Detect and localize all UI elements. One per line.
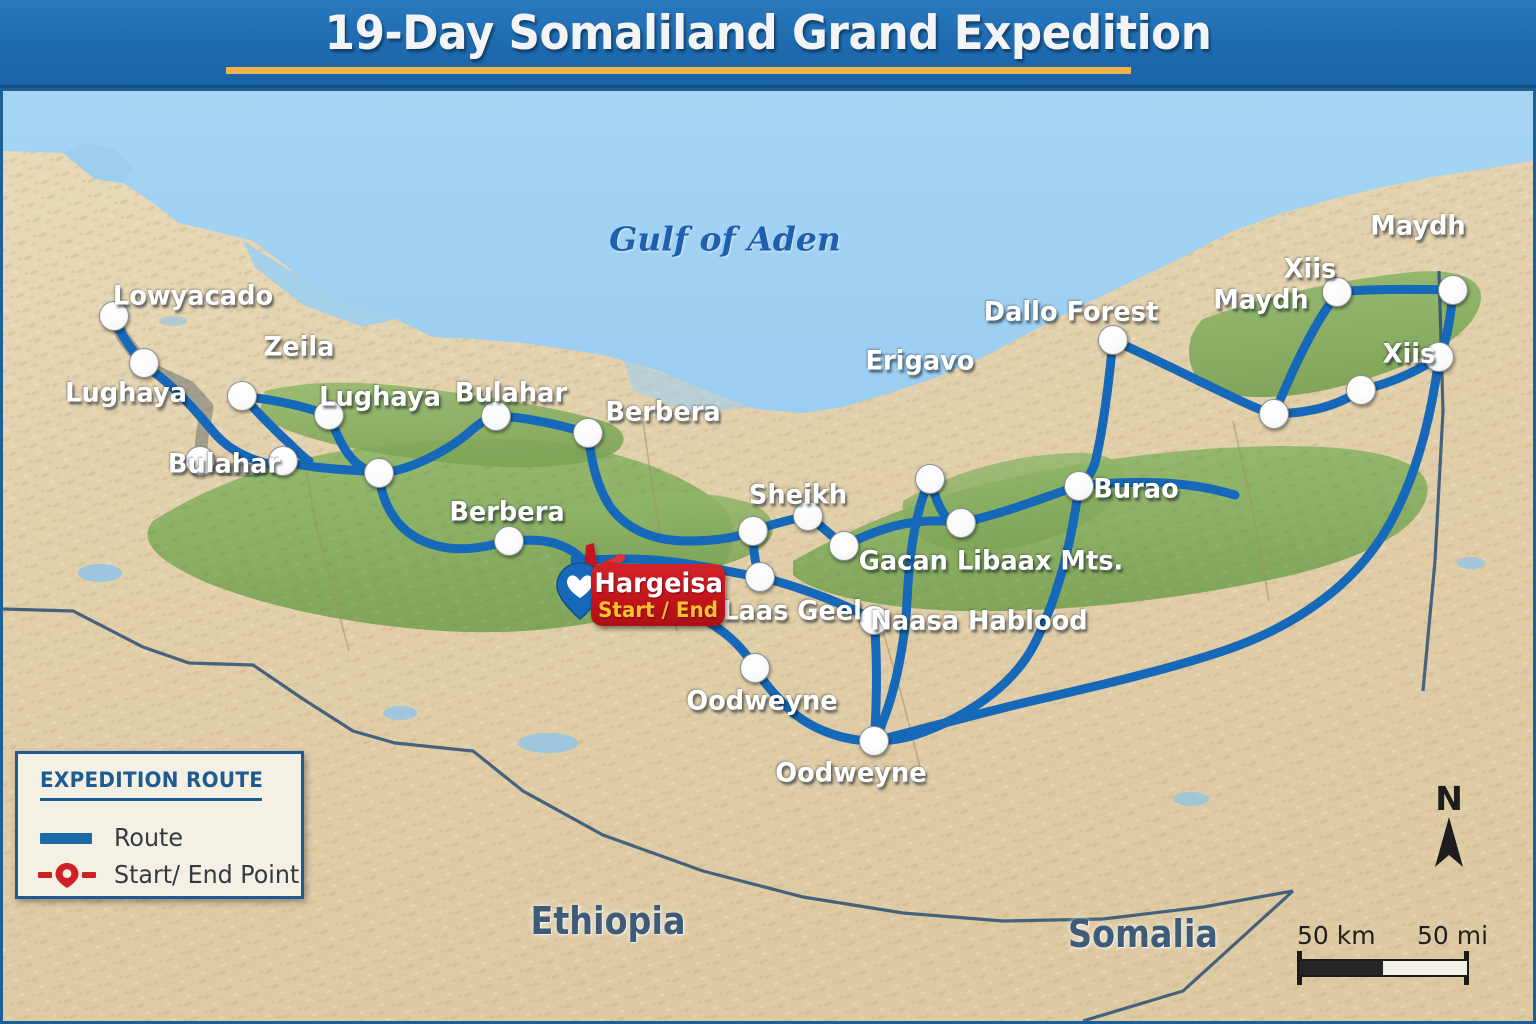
city-marker[interactable] [829, 531, 859, 561]
city-marker[interactable] [740, 653, 770, 683]
route-paths [114, 289, 1453, 741]
map-infographic: 19-Day Somaliland Grand Expedition [0, 0, 1536, 1024]
country-label-somalia: Somalia [1068, 912, 1218, 956]
city-marker[interactable] [946, 508, 976, 538]
scale-mi-label: 50 mi [1417, 921, 1488, 950]
hargeisa-label: Hargeisa [594, 568, 721, 599]
scale-km-label: 50 km [1297, 921, 1376, 950]
ocean-label: Gulf of Aden [609, 220, 841, 259]
city-marker[interactable] [129, 348, 159, 378]
scale-bar-fill [1299, 961, 1383, 975]
city-marker[interactable] [745, 562, 775, 592]
city-marker[interactable] [1438, 275, 1468, 305]
compass-north-label: N [1427, 779, 1471, 818]
city-marker[interactable] [481, 401, 511, 431]
scale-bar-track [1297, 959, 1469, 977]
city-marker[interactable] [859, 726, 889, 756]
city-marker[interactable] [915, 464, 945, 494]
city-marker[interactable] [268, 446, 298, 476]
title-underline-accent [226, 67, 1131, 74]
legend-box: EXPEDITION ROUTE Route Start/ End Point [15, 751, 304, 899]
city-marker[interactable] [738, 516, 768, 546]
route-line-swatch [40, 833, 92, 844]
legend-divider [40, 798, 262, 801]
hargeisa-badge[interactable]: Hargeisa Start / End [591, 564, 725, 626]
city-marker[interactable] [573, 418, 603, 448]
legend-title: EXPEDITION ROUTE [40, 768, 263, 792]
city-marker[interactable] [494, 526, 524, 556]
city-marker[interactable] [793, 501, 823, 531]
compass-rose: N [1427, 779, 1471, 871]
city-marker[interactable] [99, 301, 129, 331]
city-marker[interactable] [227, 381, 257, 411]
legend-item-start-end-label: Start/ End Point [114, 860, 299, 889]
page-title: 19-Day Somaliland Grand Expedition [54, 6, 1482, 61]
city-marker[interactable] [1322, 277, 1352, 307]
city-marker[interactable] [314, 400, 344, 430]
city-marker[interactable] [1098, 325, 1128, 355]
city-marker[interactable] [185, 446, 215, 476]
city-marker[interactable] [364, 458, 394, 488]
city-marker[interactable] [1064, 471, 1094, 501]
city-marker[interactable] [1346, 375, 1376, 405]
city-marker[interactable] [859, 605, 889, 635]
map-pin-icon [38, 861, 96, 889]
north-arrow-icon [1433, 815, 1465, 871]
country-label-ethiopia: Ethiopia [530, 899, 685, 943]
hargeisa-start-end-sublabel: Start / End [594, 598, 721, 622]
title-bar: 19-Day Somaliland Grand Expedition [0, 0, 1536, 88]
city-marker[interactable] [1259, 399, 1289, 429]
legend-item-route-label: Route [114, 823, 183, 852]
map-canvas[interactable]: LowyacadoLughayaZeilaLughayaBulaharBulah… [0, 88, 1536, 1024]
city-marker[interactable] [1424, 342, 1454, 372]
